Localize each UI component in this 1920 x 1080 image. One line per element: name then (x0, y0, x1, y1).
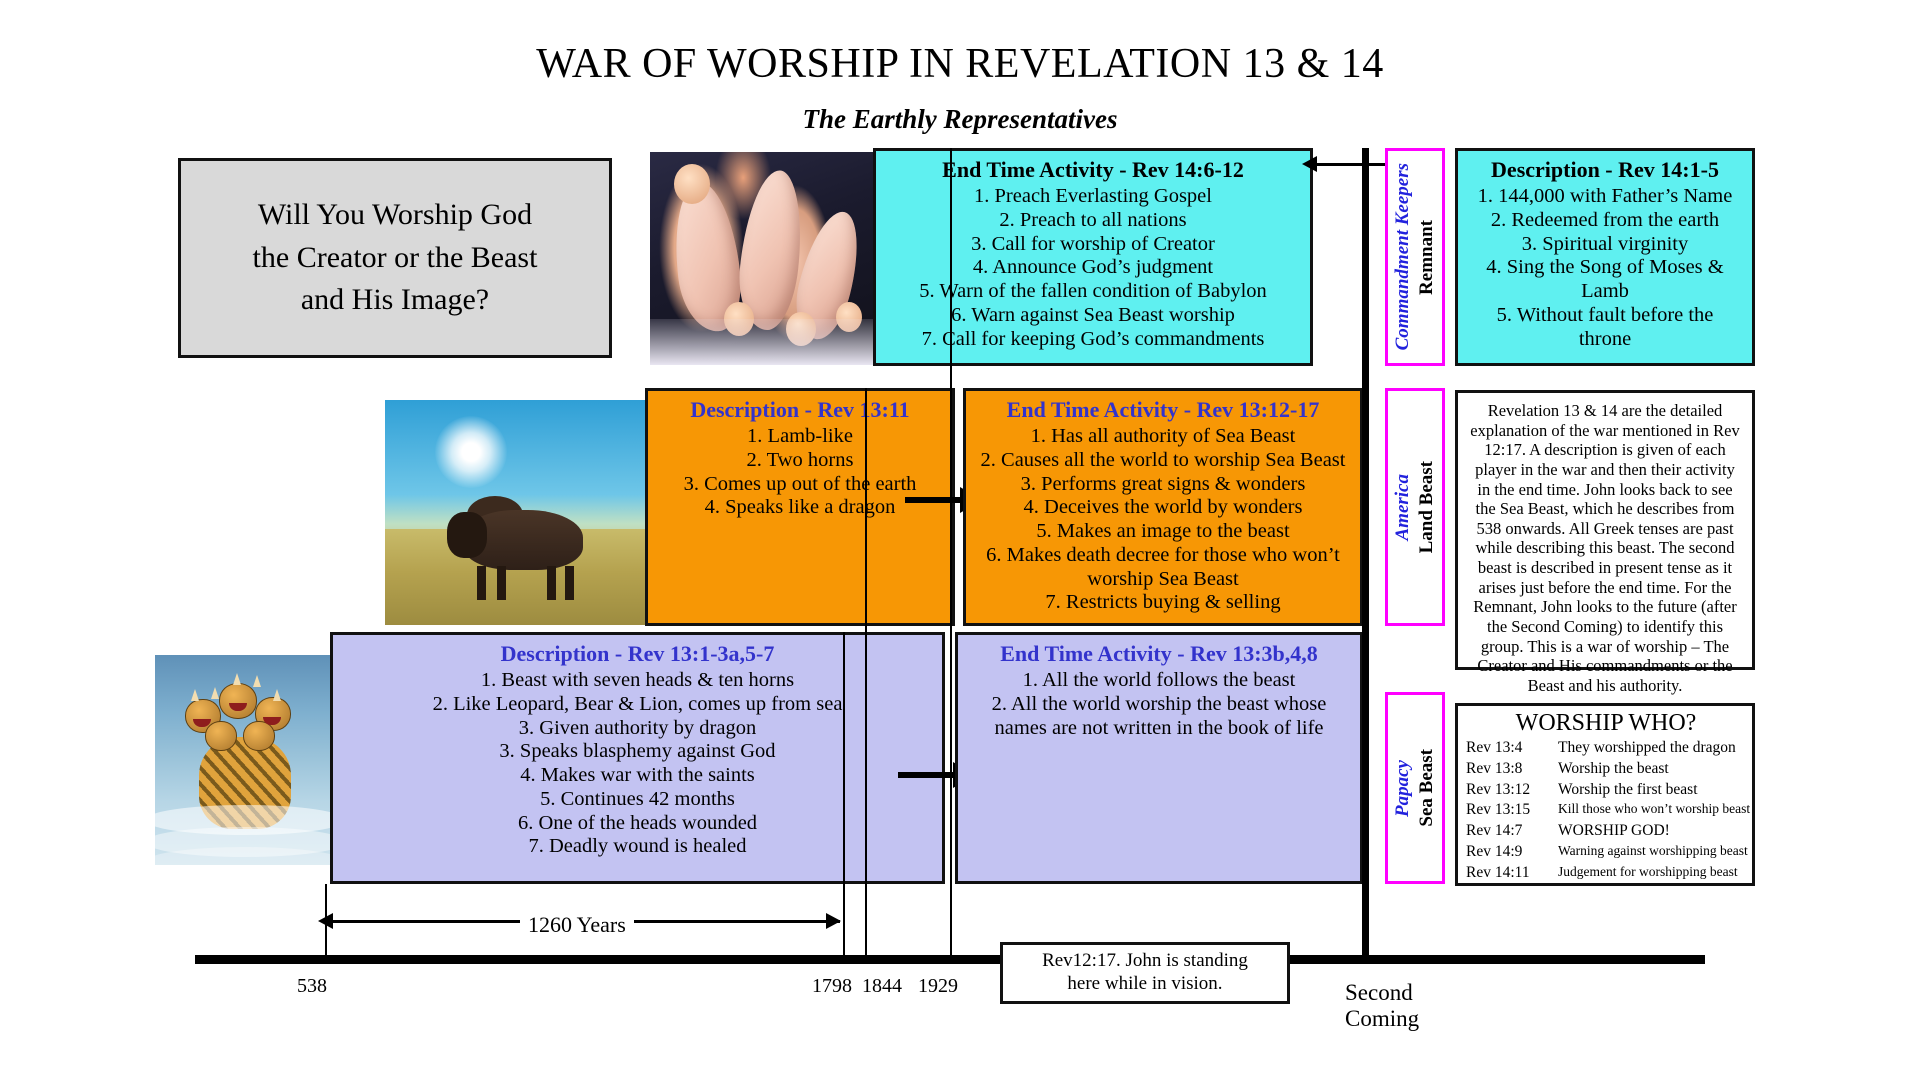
tick-line-1929 (950, 148, 952, 959)
land-beast-description-item: 1. Lamb-like (658, 425, 942, 449)
sea-beast-picture (155, 655, 330, 865)
worship-row: Rev 13:12 Worship the first beast (1466, 780, 1746, 801)
worship-ref: Rev 14:11 (1466, 863, 1558, 884)
span-arrow-head-right (826, 913, 841, 929)
remnant-activity-item: 1. Preach Everlasting Gospel (886, 185, 1300, 209)
worship-who-box: WORSHIP WHO? Rev 13:4 They worshipped th… (1455, 703, 1755, 886)
vision-note-line-1: Rev12:17. John is standing (1042, 950, 1248, 973)
sea-beast-label-box: Papacy Sea Beast (1385, 692, 1445, 884)
worship-text: Worship the first beast (1558, 780, 1698, 801)
land-beast-label-sub: America (1392, 474, 1414, 541)
question-line-1: Will You Worship God (253, 194, 538, 237)
date-label-1798: 1798 (812, 975, 852, 998)
question-line-2: the Creator or the Beast (253, 237, 538, 280)
land-beast-label-box: America Land Beast (1385, 388, 1445, 626)
land-beast-label-main: Land Beast (1416, 461, 1438, 553)
worship-ref: Rev 13:15 (1466, 800, 1558, 821)
tick-line-1798 (843, 632, 845, 959)
worship-row: Rev 14:9 Warning against worshipping bea… (1466, 842, 1746, 863)
land-beast-activity-item: 2. Causes all the world to worship Sea B… (976, 449, 1350, 473)
remnant-activity-header: End Time Activity - Rev 14:6-12 (886, 157, 1300, 183)
remnant-activity-box: End Time Activity - Rev 14:6-12 1. Preac… (873, 148, 1313, 366)
vision-note-box: Rev12:17. John is standing here while in… (1000, 942, 1290, 1004)
remnant-description-item: 2. Redeemed from the earth (1468, 209, 1742, 233)
span-arrow-head-left (318, 913, 333, 929)
vision-note-line-2: here while in vision. (1042, 973, 1248, 996)
worship-row: Rev 13:4 They worshipped the dragon (1466, 738, 1746, 759)
remnant-label-box: Commandment Keepers Remnant (1385, 148, 1445, 366)
land-beast-activity-item: 6. Makes death decree for those who won’… (976, 544, 1350, 592)
worship-text: They worshipped the dragon (1558, 738, 1736, 759)
worship-text: Warning against worshipping beast (1558, 842, 1748, 863)
land-beast-activity-item: 5. Makes an image to the beast (976, 520, 1350, 544)
land-beast-activity-item: 7. Restricts buying & selling (976, 591, 1350, 615)
worship-ref: Rev 14:7 (1466, 821, 1558, 842)
date-label-538: 538 (297, 975, 327, 998)
worship-row: Rev 13:15 Kill those who won’t worship b… (1466, 800, 1746, 821)
remnant-description-box: Description - Rev 14:1-5 1. 144,000 with… (1455, 148, 1755, 366)
remnant-description-item: 1. 144,000 with Father’s Name (1468, 185, 1742, 209)
remnant-activity-item: 7. Call for keeping God’s commandments (886, 328, 1300, 352)
remnant-activity-item: 2. Preach to all nations (886, 209, 1300, 233)
land-beast-arrow-line (905, 497, 967, 503)
worship-text: Worship the beast (1558, 759, 1669, 780)
sea-beast-activity-item: 1. All the world follows the beast (968, 669, 1350, 693)
second-coming-line-1: Second (1345, 980, 1419, 1006)
span-label: 1260 Years (520, 912, 634, 938)
worship-text: Judgement for worshipping beast (1558, 863, 1738, 884)
sea-beast-label-main: Sea Beast (1416, 749, 1438, 827)
three-angels-picture (650, 152, 883, 365)
second-coming-line (1362, 148, 1369, 959)
land-beast-activity-item: 4. Deceives the world by wonders (976, 496, 1350, 520)
worship-text: WORSHIP GOD! (1558, 821, 1670, 842)
land-beast-activity-item: 3. Performs great signs & wonders (976, 473, 1350, 497)
sea-beast-activity-header: End Time Activity - Rev 13:3b,4,8 (968, 641, 1350, 667)
land-beast-description-item: 4. Speaks like a dragon (658, 496, 942, 520)
land-beast-description-header: Description - Rev 13:11 (658, 397, 942, 423)
worship-row: Rev 14:7 WORSHIP GOD! (1466, 821, 1746, 842)
remnant-description-header: Description - Rev 14:1-5 (1468, 157, 1742, 183)
remnant-description-item: 4. Sing the Song of Moses & Lamb (1468, 256, 1742, 304)
remnant-arrow-head (1302, 156, 1317, 172)
page-subtitle: The Earthly Representatives (0, 104, 1920, 135)
date-label-1844: 1844 (862, 975, 902, 998)
worship-ref: Rev 13:8 (1466, 759, 1558, 780)
worship-ref: Rev 13:12 (1466, 780, 1558, 801)
sea-beast-label-sub: Papacy (1392, 760, 1414, 817)
worship-text: Kill those who won’t worship beast (1558, 800, 1750, 821)
tick-line-1844 (865, 388, 867, 959)
timeline-axis (195, 955, 1705, 964)
remnant-activity-item: 3. Call for worship of Creator (886, 233, 1300, 257)
remnant-description-item: 5. Without fault before the throne (1468, 304, 1742, 352)
sea-beast-activity-item: 2. All the world worship the beast whose… (968, 693, 1350, 741)
question-line-3: and His Image? (253, 279, 538, 322)
worship-row: Rev 14:11 Judgement for worshipping beas… (1466, 863, 1746, 884)
worship-ref: Rev 14:9 (1466, 842, 1558, 863)
remnant-activity-item: 5. Warn of the fallen condition of Babyl… (886, 280, 1300, 304)
remnant-label-main: Remnant (1416, 220, 1438, 295)
land-beast-activity-header: End Time Activity - Rev 13:12-17 (976, 397, 1350, 423)
land-beast-activity-item: 1. Has all authority of Sea Beast (976, 425, 1350, 449)
land-beast-activity-box: End Time Activity - Rev 13:12-17 1. Has … (963, 388, 1363, 626)
sea-beast-description-box: Description - Rev 13:1-3a,5-7 1. Beast w… (330, 632, 945, 884)
worship-row: Rev 13:8 Worship the beast (1466, 759, 1746, 780)
bison-picture (385, 400, 655, 625)
worship-ref: Rev 13:4 (1466, 738, 1558, 759)
remnant-activity-item: 4. Announce God’s judgment (886, 256, 1300, 280)
second-coming-line-2: Coming (1345, 1006, 1419, 1032)
explanation-text: Revelation 13 & 14 are the detailed expl… (1470, 401, 1739, 695)
land-beast-description-box: Description - Rev 13:11 1. Lamb-like 2. … (645, 388, 955, 626)
date-label-1929: 1929 (918, 975, 958, 998)
explanation-box: Revelation 13 & 14 are the detailed expl… (1455, 390, 1755, 670)
remnant-activity-item: 6. Warn against Sea Beast worship (886, 304, 1300, 328)
worship-who-title: WORSHIP WHO? (1466, 710, 1746, 737)
remnant-arrow-line (1315, 163, 1395, 166)
question-box: Will You Worship God the Creator or the … (178, 158, 612, 358)
land-beast-description-item: 3. Comes up out of the earth (658, 473, 942, 497)
second-coming-label: Second Coming (1345, 980, 1419, 1032)
page-title: WAR OF WORSHIP IN REVELATION 13 & 14 (0, 40, 1920, 88)
land-beast-description-item: 2. Two horns (658, 449, 942, 473)
remnant-label-sub: Commandment Keepers (1392, 163, 1414, 350)
sea-beast-activity-box: End Time Activity - Rev 13:3b,4,8 1. All… (955, 632, 1363, 884)
remnant-description-item: 3. Spiritual virginity (1468, 233, 1742, 257)
